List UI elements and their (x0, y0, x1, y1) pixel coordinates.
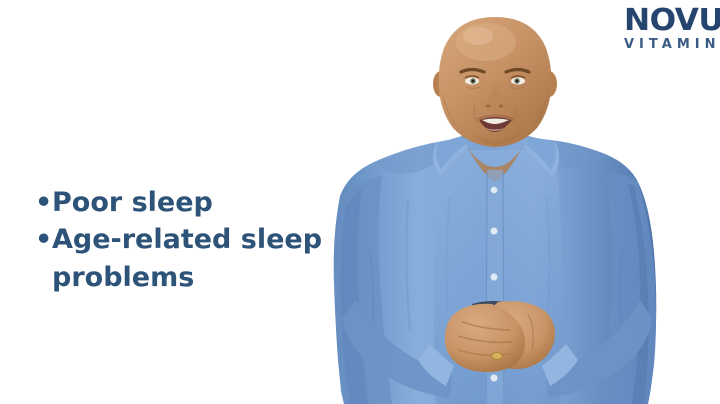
forearm-right (546, 300, 652, 398)
eye-right (511, 77, 525, 84)
cuff-right (542, 344, 578, 386)
mouth (479, 117, 512, 132)
sleeve-left (334, 176, 392, 404)
sleeve-right (600, 174, 656, 404)
shirt-torso (334, 136, 656, 404)
forearm-left (342, 300, 452, 398)
video-frame: •Poor sleep •Age-related sleep problems … (0, 0, 720, 404)
hand-right (483, 301, 555, 369)
bullet-item-1: •Age-related sleep problems (34, 221, 324, 296)
ear-left (433, 71, 449, 97)
ear-right (541, 71, 557, 97)
shirt-button (490, 374, 497, 381)
bullet-list: •Poor sleep •Age-related sleep problems (34, 184, 324, 296)
shirt-button (490, 273, 497, 280)
bullet-label: Age-related sleep problems (52, 224, 322, 292)
brand-logo: NOVUS VITAMINS (624, 6, 720, 52)
bullet-item-0: •Poor sleep (34, 184, 324, 221)
hand-left (445, 304, 525, 372)
eyebrow-left (461, 70, 484, 73)
shirt-placket (485, 170, 505, 404)
bullet-label: Poor sleep (52, 187, 213, 218)
cuff-left (418, 344, 454, 386)
bullet-marker: • (35, 221, 52, 258)
eye-left (465, 77, 479, 84)
nose (486, 84, 505, 109)
eyebrow-right (506, 70, 529, 73)
shirt-button (490, 227, 497, 234)
brand-logo-subtitle: VITAMINS (624, 38, 720, 51)
head (439, 17, 552, 147)
shirt-button (491, 187, 498, 194)
brand-logo-wordmark: NOVUS (624, 6, 720, 36)
wedding-ring (492, 353, 502, 360)
bullet-marker: • (35, 184, 52, 221)
shirt-collar (433, 136, 468, 176)
neck (462, 108, 528, 176)
